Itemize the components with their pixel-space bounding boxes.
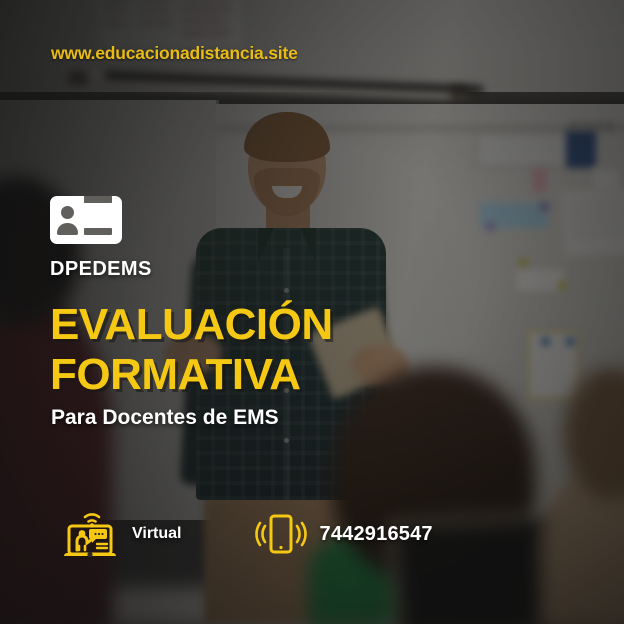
id-card-person-body <box>57 223 78 235</box>
page-title: EVALUACIÓN FORMATIVA <box>50 300 333 400</box>
contact-bar: Virtual 7442916547 <box>60 506 433 562</box>
modality-label: Virtual <box>132 525 182 543</box>
phone-group: 7442916547 <box>252 506 433 562</box>
phone-number[interactable]: 7442916547 <box>320 523 433 546</box>
page-subtitle: Para Docentes de EMS <box>51 406 279 430</box>
id-card-line <box>84 196 112 203</box>
modality-group: Virtual <box>60 506 182 562</box>
organization-name: DPEDEMS <box>50 258 152 281</box>
online-class-icon <box>60 506 120 562</box>
mobile-phone-icon <box>252 506 308 562</box>
id-card-line <box>84 228 112 235</box>
id-card-icon <box>50 196 122 244</box>
website-url[interactable]: www.educacionadistancia.site <box>51 43 298 64</box>
promotional-flyer: www.educacionadistancia.site DPEDEMS EVA… <box>0 0 624 624</box>
id-card-person-head <box>61 206 74 219</box>
